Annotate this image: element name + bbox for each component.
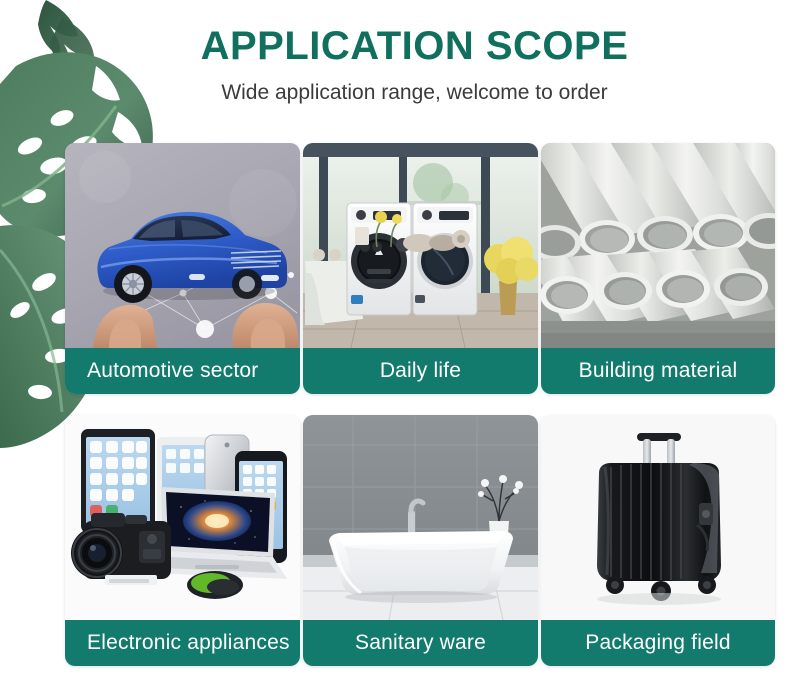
daily-life-image [303,143,538,348]
card-caption-automotive-sector: Automotive sector [65,348,300,394]
card-caption-daily-life: Daily life [303,348,538,394]
building-material-image [541,143,775,348]
card-automotive-sector[interactable]: Automotive sector [65,143,300,394]
page-title: APPLICATION SCOPE [0,22,793,70]
card-caption-electronic-appliances: Electronic appliances [65,620,300,666]
electronic-appliances-image [65,415,300,620]
card-daily-life[interactable]: Daily life [303,143,538,394]
application-card-grid: Automotive sector [65,143,775,666]
card-sanitary-ware[interactable]: Sanitary ware [303,415,538,666]
packaging-field-image [541,415,775,620]
card-caption-packaging-field: Packaging field [541,620,775,666]
card-caption-building-material: Building material [541,348,775,394]
card-building-material[interactable]: Building material [541,143,775,394]
sanitary-ware-image [303,415,538,620]
application-scope-page: APPLICATION SCOPE Wide application range… [0,0,793,694]
automotive-sector-image [65,143,300,348]
card-caption-sanitary-ware: Sanitary ware [303,620,538,666]
page-subtitle: Wide application range, welcome to order [0,79,793,107]
card-packaging-field[interactable]: Packaging field [541,415,775,666]
page-header: APPLICATION SCOPE Wide application range… [0,22,793,107]
card-electronic-appliances[interactable]: Electronic appliances [65,415,300,666]
